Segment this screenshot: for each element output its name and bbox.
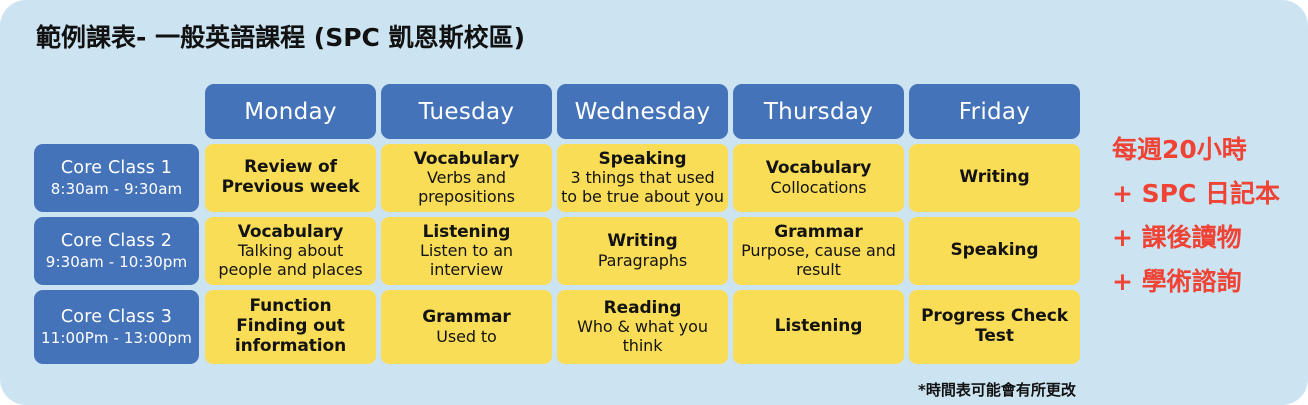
subject-block: Listening	[733, 290, 904, 364]
schedule-cell: Listening Listen to an interview	[381, 217, 552, 285]
footnote-disclaimer: *時間表可能會有所更改	[918, 379, 1076, 400]
day-header-tuesday: Tuesday	[381, 84, 552, 139]
class-time: 8:30am - 9:30am	[51, 180, 182, 198]
subject-desc: Listen to an interview	[385, 242, 548, 279]
class-name: Core Class 2	[61, 231, 172, 252]
schedule-cell: Speaking 3 things that used to be true a…	[557, 144, 728, 212]
table-row: Core Class 2 9:30am - 10:30pm Vocabulary…	[34, 217, 1080, 285]
day-header-thursday: Thursday	[733, 84, 904, 139]
table-row: Core Class 1 8:30am - 9:30am Review of P…	[34, 144, 1080, 212]
class-label-cell: Core Class 1 8:30am - 9:30am	[34, 144, 199, 212]
subject-block: Vocabulary Verbs and prepositions	[381, 144, 552, 212]
class-chip-3: Core Class 3 11:00Pm - 13:00pm	[34, 290, 199, 364]
subject-title: Vocabulary	[414, 150, 520, 170]
subject-desc: Purpose, cause and result	[737, 242, 900, 279]
note-spc-journal: + SPC 日記本	[1112, 181, 1308, 206]
subject-title: Listening	[423, 223, 511, 243]
subject-title: Review of	[244, 158, 337, 178]
schedule-panel: 範例課表- 一般英語課程 (SPC 凱恩斯校區) Monday Tuesday …	[0, 0, 1308, 405]
subject-block: Grammar Purpose, cause and result	[733, 217, 904, 285]
subject-title: Reading	[604, 299, 682, 319]
schedule-cell: Writing	[909, 144, 1080, 212]
class-time: 11:00Pm - 13:00pm	[41, 329, 192, 347]
schedule-cell: Function Finding out information	[205, 290, 376, 364]
class-label-cell: Core Class 3 11:00Pm - 13:00pm	[34, 290, 199, 364]
subject-block: Review of Previous week	[205, 144, 376, 212]
subject-desc: Who & what you think	[561, 318, 724, 355]
schedule-cell: Progress Check Test	[909, 290, 1080, 364]
day-header-wednesday: Wednesday	[557, 84, 728, 139]
class-time: 9:30am - 10:30pm	[46, 253, 187, 271]
subject-block: Grammar Used to	[381, 290, 552, 364]
day-column-friday: Friday	[909, 84, 1080, 139]
subject-block: Progress Check Test	[909, 290, 1080, 364]
note-weekly-hours: 每週20小時	[1112, 137, 1308, 162]
page-title: 範例課表- 一般英語課程 (SPC 凱恩斯校區)	[36, 18, 525, 54]
schedule-cell: Reading Who & what you think	[557, 290, 728, 364]
subject-title: Writing	[959, 168, 1029, 188]
schedule-cell: Vocabulary Collocations	[733, 144, 904, 212]
class-name: Core Class 1	[61, 158, 172, 179]
subject-desc: Finding out information	[209, 317, 372, 356]
note-after-class-reading: + 課後讀物	[1112, 225, 1308, 250]
schedule-cell: Grammar Used to	[381, 290, 552, 364]
subject-desc: Collocations	[770, 179, 866, 198]
subject-title: Writing	[607, 232, 677, 252]
subject-desc: 3 things that used to be true about you	[561, 169, 724, 206]
schedule-grid: Monday Tuesday Wednesday Thursday Friday…	[34, 84, 1080, 364]
schedule-cell: Vocabulary Talking about people and plac…	[205, 217, 376, 285]
subject-title: Grammar	[774, 223, 862, 243]
schedule-cell: Speaking	[909, 217, 1080, 285]
subject-block: Vocabulary Collocations	[733, 144, 904, 212]
class-label-cell: Core Class 2 9:30am - 10:30pm	[34, 217, 199, 285]
subject-title: Vocabulary	[766, 159, 872, 179]
note-academic-consulting: + 學術諮詢	[1112, 269, 1308, 294]
schedule-cell: Writing Paragraphs	[557, 217, 728, 285]
day-column-tuesday: Tuesday	[381, 84, 552, 139]
day-column-monday: Monday	[205, 84, 376, 139]
schedule-cell: Grammar Purpose, cause and result	[733, 217, 904, 285]
header-corner-spacer	[34, 84, 199, 139]
subject-title: Function	[250, 297, 332, 317]
subject-desc: Used to	[436, 328, 497, 347]
subject-desc: Verbs and prepositions	[385, 169, 548, 206]
subject-title: Vocabulary	[238, 223, 344, 243]
subject-block: Reading Who & what you think	[557, 290, 728, 364]
class-name: Core Class 3	[61, 307, 172, 328]
subject-desc: Previous week	[222, 178, 360, 198]
day-header-friday: Friday	[909, 84, 1080, 139]
subject-title: Speaking	[598, 150, 686, 170]
schedule-cell: Vocabulary Verbs and prepositions	[381, 144, 552, 212]
subject-block: Listening Listen to an interview	[381, 217, 552, 285]
subject-block: Speaking 3 things that used to be true a…	[557, 144, 728, 212]
day-column-wednesday: Wednesday	[557, 84, 728, 139]
day-column-thursday: Thursday	[733, 84, 904, 139]
subject-desc: Talking about people and places	[209, 242, 372, 279]
class-chip-2: Core Class 2 9:30am - 10:30pm	[34, 217, 199, 285]
subject-block: Writing	[909, 144, 1080, 212]
subject-desc: Paragraphs	[598, 252, 687, 271]
subject-title: Progress Check Test	[913, 307, 1076, 346]
subject-block: Speaking	[909, 217, 1080, 285]
subject-title: Listening	[775, 317, 863, 337]
subject-block: Function Finding out information	[205, 290, 376, 364]
table-row: Core Class 3 11:00Pm - 13:00pm Function …	[34, 290, 1080, 364]
subject-block: Writing Paragraphs	[557, 217, 728, 285]
notes-column: 每週20小時 + SPC 日記本 + 課後讀物 + 學術諮詢	[1112, 137, 1308, 294]
subject-block: Vocabulary Talking about people and plac…	[205, 217, 376, 285]
schedule-cell: Listening	[733, 290, 904, 364]
day-header-monday: Monday	[205, 84, 376, 139]
class-chip-1: Core Class 1 8:30am - 9:30am	[34, 144, 199, 212]
schedule-header-row: Monday Tuesday Wednesday Thursday Friday	[34, 84, 1080, 139]
subject-title: Speaking	[950, 241, 1038, 261]
subject-title: Grammar	[422, 308, 510, 328]
schedule-cell: Review of Previous week	[205, 144, 376, 212]
